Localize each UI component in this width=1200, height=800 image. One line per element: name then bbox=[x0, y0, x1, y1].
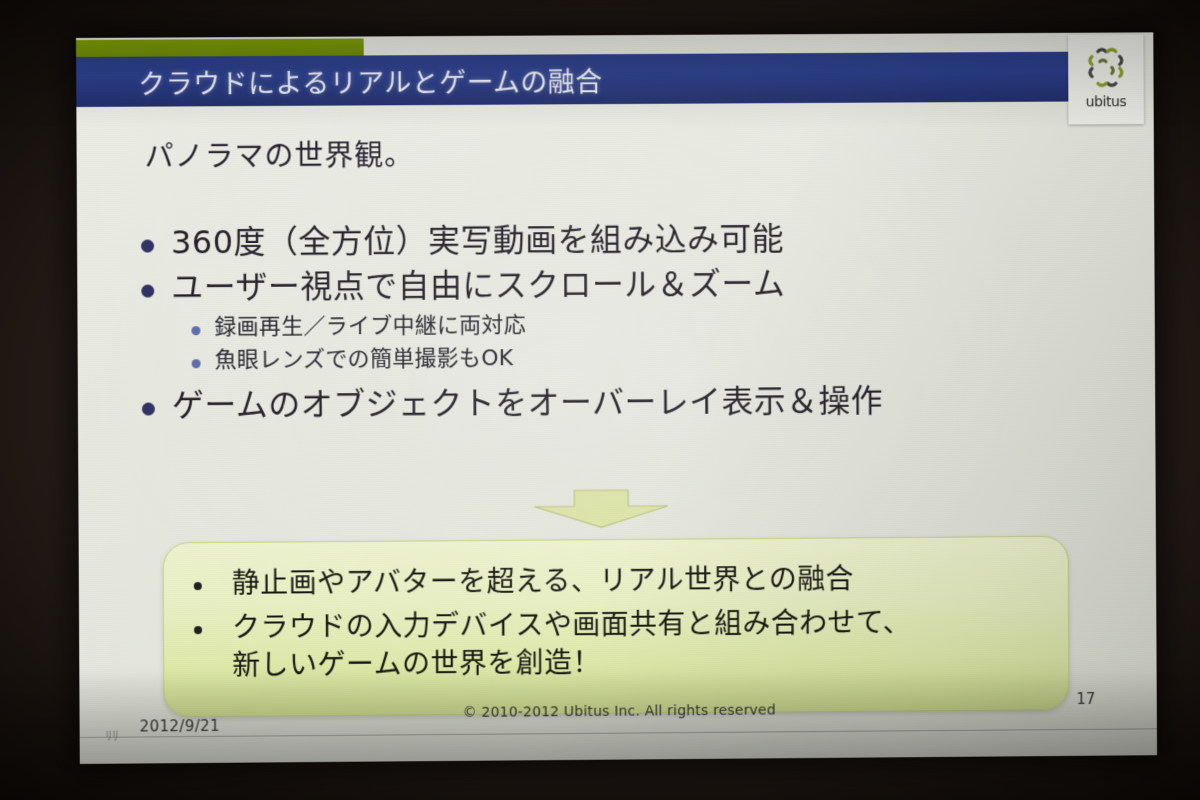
down-arrow-icon bbox=[533, 489, 671, 530]
conclusion-label: クラウドの入力デバイスや画面共有と組み合わせて、 新しいゲームの世界を創造！ bbox=[232, 604, 911, 685]
footer-page-number: 17 bbox=[1076, 690, 1095, 708]
sub-bullet-item: 魚眼レンズでの簡単撮影もOK bbox=[192, 341, 1098, 375]
sub-bullet-list: 録画再生／ライブ中継に両対応 魚眼レンズでの簡単撮影もOK bbox=[191, 308, 1097, 375]
footer-divider bbox=[80, 728, 1157, 738]
slide-title: クラウドによるリアルとゲームの融合 bbox=[138, 60, 603, 101]
ubitus-logo: ubitus bbox=[1068, 34, 1144, 124]
sub-bullet-dot-icon bbox=[191, 326, 200, 335]
slide-body: クラウドによるリアルとゲームの融合 bbox=[76, 32, 1157, 764]
projection-photo-frame: クラウドによるリアルとゲームの融合 bbox=[0, 0, 1200, 800]
conclusion-item: 静止画やアバターを超える、リアル世界との融合 bbox=[194, 559, 1038, 603]
bullet-label: 360度（全方位）実写動画を組み込み可能 bbox=[171, 219, 784, 264]
sub-bullet-item: 録画再生／ライブ中継に両対応 bbox=[191, 308, 1097, 342]
conclusion-label: 静止画やアバターを超える、リアル世界との融合 bbox=[232, 560, 854, 603]
bullet-label: ゲームのオブジェクトをオーバーレイ表示＆操作 bbox=[172, 381, 883, 427]
bullet-list: 360度（全方位）実写動画を組み込み可能 ユーザー視点で自由にスクロール＆ズーム… bbox=[141, 217, 1098, 431]
bullet-item: ユーザー視点で自由にスクロール＆ズーム bbox=[141, 262, 1097, 309]
ubitus-wordmark: ubitus bbox=[1086, 94, 1127, 110]
bullet-dot-icon bbox=[141, 240, 154, 253]
slide-lead-line: パノラマの世界観。 bbox=[144, 132, 414, 176]
header-accent-bar bbox=[76, 38, 364, 57]
bullet-dot-icon bbox=[142, 403, 155, 416]
slide-title-bar: クラウドによるリアルとゲームの融合 bbox=[76, 51, 1132, 107]
bullet-item: ゲームのオブジェクトをオーバーレイ表示＆操作 bbox=[142, 379, 1098, 426]
sub-bullet-dot-icon bbox=[192, 359, 201, 368]
ubitus-circular-arcs-logo-icon bbox=[1080, 41, 1132, 93]
sub-bullet-label: 録画再生／ライブ中継に両対応 bbox=[214, 312, 526, 343]
conclusion-dot-icon bbox=[194, 626, 202, 634]
footer-corner-mark: ﾘﾘ bbox=[106, 725, 119, 744]
bullet-item: 360度（全方位）実写動画を組み込み可能 bbox=[141, 217, 1097, 264]
bullet-label: ユーザー視点で自由にスクロール＆ズーム bbox=[171, 264, 785, 309]
bullet-dot-icon bbox=[141, 284, 154, 297]
conclusion-item: クラウドの入力デバイスや画面共有と組み合わせて、 新しいゲームの世界を創造！ bbox=[194, 603, 1039, 685]
projected-slide: クラウドによるリアルとゲームの融合 bbox=[76, 32, 1157, 764]
conclusion-box: 静止画やアバターを超える、リアル世界との融合 クラウドの入力デバイスや画面共有と… bbox=[163, 536, 1070, 718]
conclusion-dot-icon bbox=[194, 582, 202, 590]
sub-bullet-label: 魚眼レンズでの簡単撮影もOK bbox=[215, 345, 514, 376]
